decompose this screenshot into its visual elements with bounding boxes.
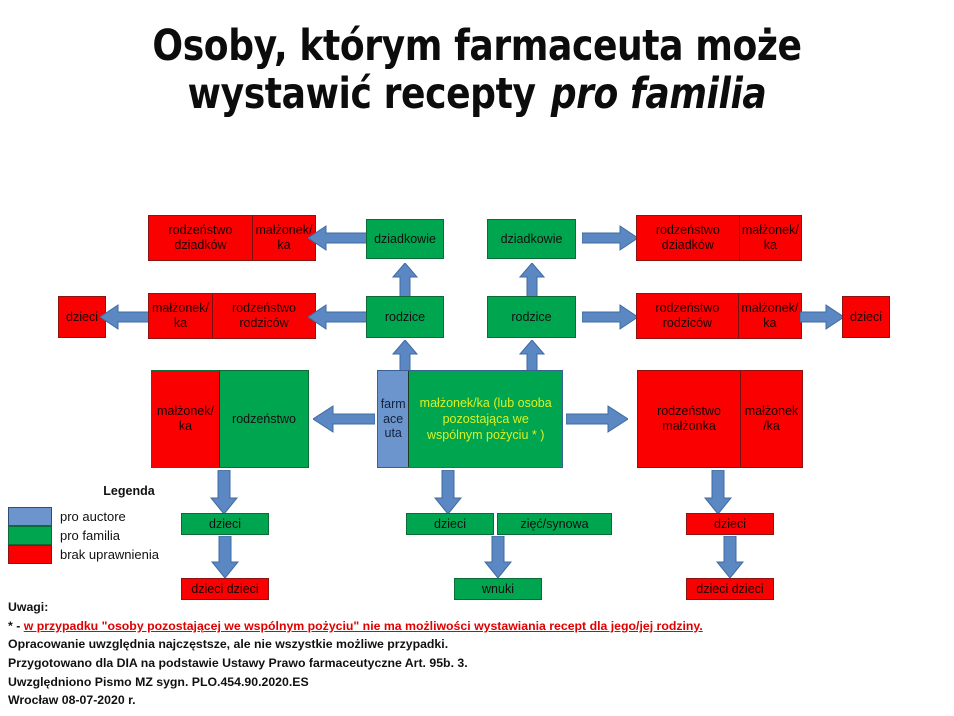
node-far-right-children[interactable]: dzieci bbox=[842, 296, 890, 338]
arrow-partner-to-spouse-relatives bbox=[566, 404, 628, 434]
node-left-grandchildren[interactable]: dzieci dzieci bbox=[181, 578, 269, 600]
cell-right-spouse-siblings: rodzeństwo małżonka bbox=[638, 371, 740, 467]
cell-right-parents-siblings: rodzeństwo rodziców bbox=[637, 294, 738, 338]
cell-pharmacist: farmaceuta bbox=[378, 371, 409, 467]
node-left-parents[interactable]: rodzice bbox=[366, 296, 444, 338]
arrow-right-parents-to-relatives bbox=[582, 303, 638, 331]
arrow-own-relatives-to-children bbox=[210, 470, 238, 514]
node-left-parents-relatives[interactable]: małżonek/ka rodzeństwo rodziców bbox=[148, 293, 316, 339]
notes-line-3: Przygotowano dla DIA na podstawie Ustawy… bbox=[8, 654, 708, 673]
notes-heading: Uwagi: bbox=[8, 598, 708, 617]
arrow-left-parents-to-relatives bbox=[308, 303, 368, 331]
cell-left-parents-siblings: rodzeństwo rodziców bbox=[212, 294, 315, 338]
cell-left-parents: rodzice bbox=[367, 297, 443, 337]
cell-right-grandparents-spouse: małżonek/ka bbox=[739, 216, 801, 260]
legend-label-brak-uprawnienia: brak uprawnienia bbox=[52, 547, 159, 562]
node-right-children[interactable]: dzieci bbox=[686, 513, 774, 535]
node-center-in-law[interactable]: zięć/synowa bbox=[497, 513, 612, 535]
node-right-parents[interactable]: rodzice bbox=[487, 296, 576, 338]
arrow-left-children-to-grandchildren bbox=[211, 536, 239, 578]
node-right-grandparents[interactable]: dziadkowie bbox=[487, 219, 576, 259]
arrow-left-parents-to-grandparents bbox=[392, 263, 418, 299]
legend-label-pro-familia: pro familia bbox=[52, 528, 120, 543]
cell-right-parents: rodzice bbox=[488, 297, 575, 337]
cell-far-right-children: dzieci bbox=[843, 297, 889, 337]
cell-left-own-spouse: małżonek/ka bbox=[152, 371, 219, 467]
legend-item-pro-auctore: pro auctore bbox=[8, 507, 198, 526]
legend-label-pro-auctore: pro auctore bbox=[52, 509, 126, 524]
cell-right-children: dzieci bbox=[687, 514, 773, 534]
arrow-center-children-to-grandchildren bbox=[484, 536, 512, 578]
cell-left-grandchildren: dzieci dzieci bbox=[182, 579, 268, 599]
cell-center-children: dzieci bbox=[407, 514, 493, 534]
cell-far-left-children: dzieci bbox=[59, 297, 105, 337]
arrow-pharmacist-to-children bbox=[434, 470, 462, 514]
arrow-pharmacist-to-own-relatives bbox=[313, 404, 375, 434]
arrow-right-parents-to-grandparents bbox=[519, 263, 545, 299]
cell-right-parents-spouse: małżonek/ka bbox=[738, 294, 801, 338]
cell-right-grandparents: dziadkowie bbox=[488, 220, 575, 258]
cell-right-spouse-spouse: małżonek/ka bbox=[740, 371, 802, 467]
arrow-spouse-relatives-to-children bbox=[704, 470, 732, 514]
cell-left-parents-spouse: małżonek/ka bbox=[149, 294, 212, 338]
node-center-children[interactable]: dzieci bbox=[406, 513, 494, 535]
cell-left-grandparents-siblings: rodzeństwo dziadków bbox=[149, 216, 252, 260]
node-far-left-children[interactable]: dzieci bbox=[58, 296, 106, 338]
notes-star-prefix: * - bbox=[8, 619, 24, 633]
node-right-spouse-relatives[interactable]: rodzeństwo małżonka małżonek/ka bbox=[637, 370, 803, 468]
node-left-grandparents[interactable]: dziadkowie bbox=[366, 219, 444, 259]
arrow-right-children-to-grandchildren bbox=[716, 536, 744, 578]
notes-line-4: Uwzględniono Pismo MZ sygn. PLO.454.90.2… bbox=[8, 673, 708, 692]
legend-swatch-brak-uprawnienia bbox=[8, 545, 52, 564]
notes-block: Uwagi: * - w przypadku "osoby pozostając… bbox=[8, 598, 708, 710]
notes-line-5: Wrocław 08-07-2020 r. bbox=[8, 691, 708, 710]
arrow-left-grandparents-to-relatives bbox=[308, 224, 368, 252]
node-left-own-relatives[interactable]: małżonek/ka rodzeństwo bbox=[151, 370, 309, 468]
cell-left-grandparents: dziadkowie bbox=[367, 220, 443, 258]
legend-swatch-pro-auctore bbox=[8, 507, 52, 526]
legend: Legenda pro auctore pro familia brak upr… bbox=[8, 484, 198, 564]
cell-left-grandparents-spouse: małżonek/ka bbox=[252, 216, 315, 260]
cell-left-own-siblings: rodzeństwo bbox=[219, 371, 308, 467]
node-left-grandparents-relatives[interactable]: rodzeństwo dziadków małżonek/ka bbox=[148, 215, 316, 261]
arrow-left-parents-relatives-to-children bbox=[100, 303, 152, 331]
cell-right-grandparents-siblings: rodzeństwo dziadków bbox=[637, 216, 739, 260]
cell-right-grandchildren: dzieci dzieci bbox=[687, 579, 773, 599]
notes-star-text: w przypadku "osoby pozostającej we wspól… bbox=[24, 619, 703, 633]
cell-partner: małżonek/ka (lub osoba pozostająca we ws… bbox=[409, 371, 562, 467]
node-right-grandchildren[interactable]: dzieci dzieci bbox=[686, 578, 774, 600]
node-pharmacist-and-partner[interactable]: farmaceuta małżonek/ka (lub osoba pozost… bbox=[377, 370, 563, 468]
arrow-right-grandparents-to-relatives bbox=[582, 224, 638, 252]
legend-title: Legenda bbox=[60, 484, 198, 498]
notes-star-line: * - w przypadku "osoby pozostającej we w… bbox=[8, 617, 708, 636]
legend-item-pro-familia: pro familia bbox=[8, 526, 198, 545]
node-right-grandparents-relatives[interactable]: rodzeństwo dziadków małżonek/ka bbox=[636, 215, 802, 261]
arrow-right-parents-relatives-to-children bbox=[800, 303, 844, 331]
node-right-parents-relatives[interactable]: rodzeństwo rodziców małżonek/ka bbox=[636, 293, 802, 339]
notes-line-2: Opracowanie uwzględnia najczęstsze, ale … bbox=[8, 635, 708, 654]
legend-swatch-pro-familia bbox=[8, 526, 52, 545]
legend-item-brak-uprawnienia: brak uprawnienia bbox=[8, 545, 198, 564]
cell-center-in-law: zięć/synowa bbox=[498, 514, 611, 534]
cell-center-grandchildren: wnuki bbox=[455, 579, 541, 599]
node-center-grandchildren[interactable]: wnuki bbox=[454, 578, 542, 600]
